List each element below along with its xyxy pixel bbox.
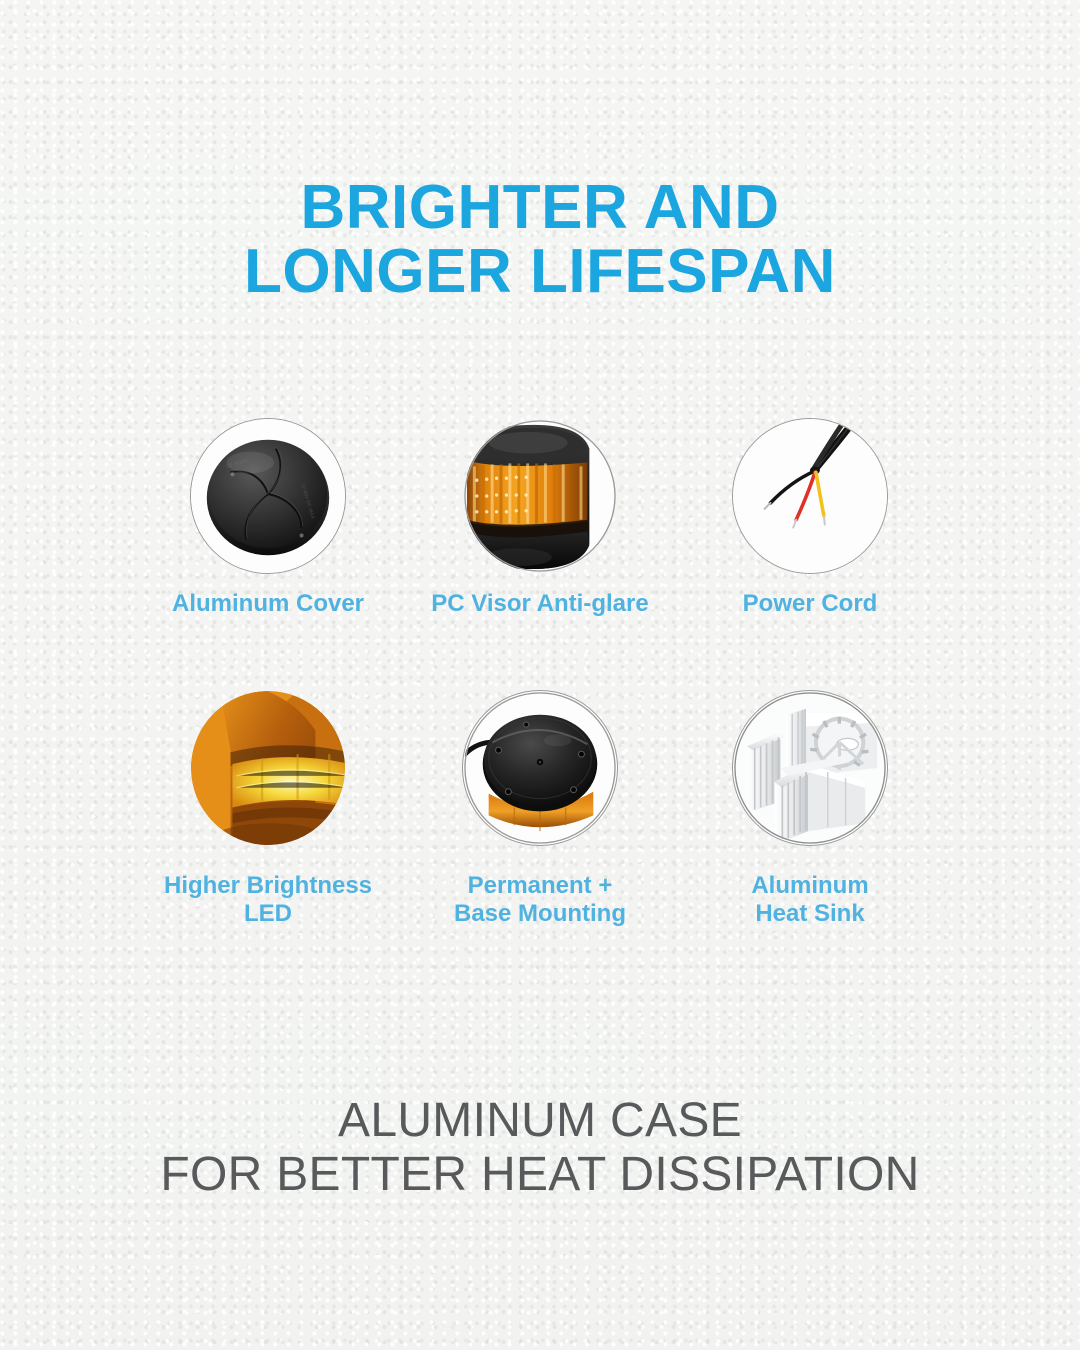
- page-title: BRIGHTER AND LONGER LIFESPAN: [0, 176, 1080, 304]
- feature-item-base-mounting[interactable]: Permanent + Base Mounting: [420, 690, 660, 928]
- heat-sink-photo: [732, 690, 888, 846]
- base-mounting-photo: [462, 690, 618, 846]
- led-glow-photo: [190, 690, 346, 846]
- infographic-page: BRIGHTER AND LONGER LIFESPAN: [0, 0, 1080, 1350]
- feature-label: Power Cord: [690, 590, 930, 618]
- feature-label: PC Visor Anti-glare: [420, 590, 660, 618]
- feature-item-aluminum-cover[interactable]: CE ROHS 12-80V DC MAX Aluminum Cover: [148, 418, 388, 618]
- feature-label: Permanent + Base Mounting: [420, 872, 660, 928]
- feature-item-pc-visor[interactable]: PC Visor Anti-glare: [420, 418, 660, 618]
- feature-item-higher-brightness-led[interactable]: Higher Brightness LED: [148, 690, 388, 928]
- feature-label: Aluminum Cover: [148, 590, 388, 618]
- feature-item-power-cord[interactable]: Power Cord: [690, 418, 930, 618]
- feature-label: Higher Brightness LED: [148, 872, 388, 928]
- footer-tagline: ALUMINUM CASE FOR BETTER HEAT DISSIPATIO…: [0, 1094, 1080, 1202]
- feature-label: Aluminum Heat Sink: [690, 872, 930, 928]
- feature-item-heat-sink[interactable]: Aluminum Heat Sink: [690, 690, 930, 928]
- aluminum-cover-photo: CE ROHS 12-80V DC MAX: [190, 418, 346, 574]
- power-cord-photo: [732, 418, 888, 574]
- pc-visor-photo: [462, 418, 618, 574]
